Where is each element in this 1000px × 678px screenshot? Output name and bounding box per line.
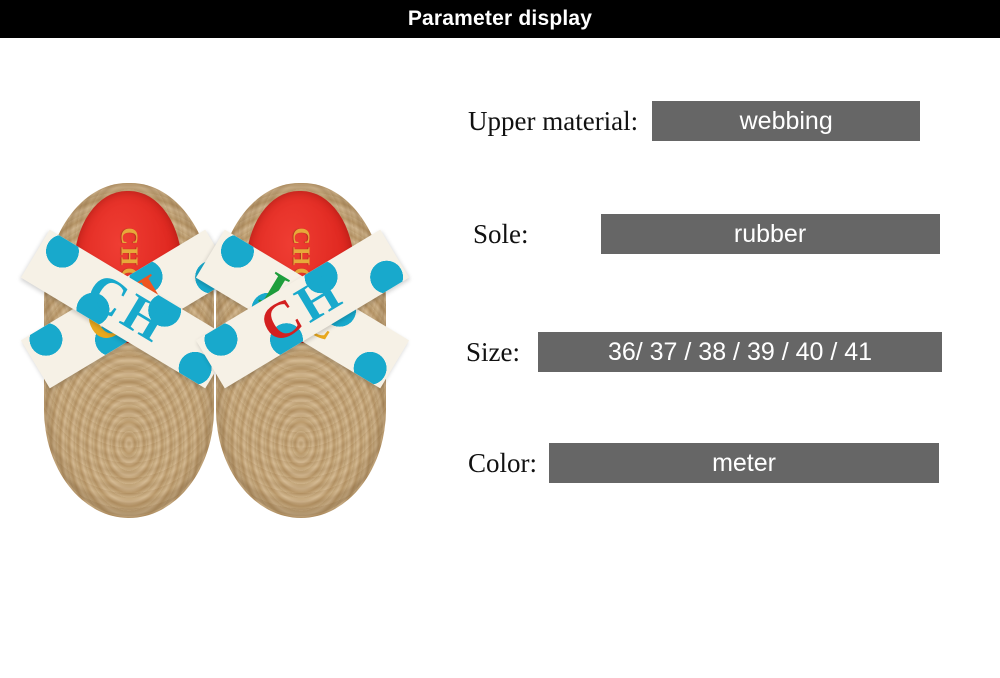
spec-row-color: Color: meter — [468, 443, 939, 483]
spec-value-box-color: meter — [549, 443, 939, 483]
spec-label-upper-material: Upper material: — [468, 106, 638, 137]
spec-value-upper-material: webbing — [740, 107, 833, 136]
spec-value-box-sole: rubber — [601, 214, 940, 254]
spec-label-color: Color: — [468, 448, 537, 479]
product-image: CHCH CH CH CHCH — [30, 163, 400, 543]
spec-value-color: meter — [712, 449, 776, 478]
spec-row-upper-material: Upper material: webbing — [468, 101, 920, 141]
header-bar: Parameter display — [0, 0, 1000, 38]
spec-row-sole: Sole: rubber — [473, 214, 940, 254]
spec-label-size: Size: — [466, 337, 520, 368]
spec-value-box-size: 36/ 37 / 38 / 39 / 40 / 41 — [538, 332, 942, 372]
spec-label-sole: Sole: — [473, 219, 529, 250]
page-title: Parameter display — [408, 7, 592, 31]
spec-row-size: Size: 36/ 37 / 38 / 39 / 40 / 41 — [466, 332, 942, 372]
spec-value-box-upper-material: webbing — [652, 101, 920, 141]
spec-value-sole: rubber — [734, 220, 806, 249]
sandal-left: CHCH CH CH — [44, 163, 214, 523]
content-area: CHCH CH CH CHCH — [0, 38, 1000, 678]
sandal-right: CHCH HC CH — [216, 163, 386, 523]
spec-value-size: 36/ 37 / 38 / 39 / 40 / 41 — [608, 338, 872, 367]
